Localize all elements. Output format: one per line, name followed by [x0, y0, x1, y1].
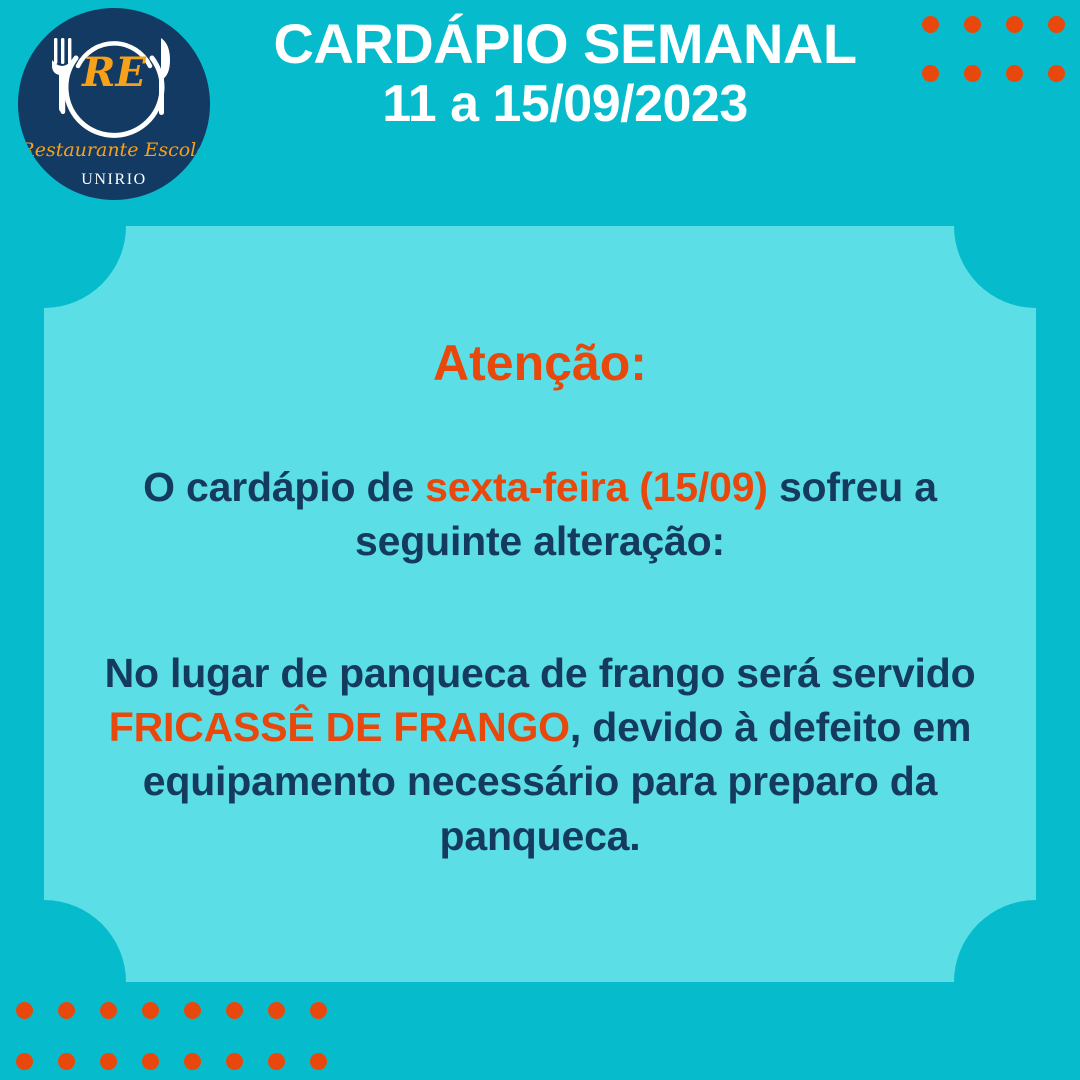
paragraph-2-highlight: FRICASSÊ DE FRANGO [109, 704, 570, 750]
paragraph-1-highlight: sexta-feira (15/09) [425, 464, 768, 510]
dot-icon [1006, 16, 1023, 33]
dot-icon [100, 1002, 117, 1019]
dot-icon [964, 65, 981, 82]
dot-icon [310, 1002, 327, 1019]
notice-paragraph-2: No lugar de panqueca de frango será serv… [100, 646, 980, 862]
restaurante-escola-unirio-logo: RE Restaurante Escola UNIRIO [18, 8, 210, 200]
paragraph-1-before: O cardápio de [143, 464, 425, 510]
dot-icon [226, 1002, 243, 1019]
notice-paragraph-1: O cardápio de sexta-feira (15/09) sofreu… [100, 460, 980, 568]
title-line-2: 11 a 15/09/2023 [215, 77, 915, 132]
page-title: CARDÁPIO SEMANAL 11 a 15/09/2023 [215, 14, 915, 132]
dot-icon [142, 1053, 159, 1070]
dot-icon [226, 1053, 243, 1070]
dot-icon [142, 1002, 159, 1019]
dot-grid-bottom-left [16, 1002, 327, 1070]
dot-grid-top-right [922, 16, 1065, 82]
dot-icon [16, 1053, 33, 1070]
dot-icon [58, 1002, 75, 1019]
poster-canvas: RE Restaurante Escola UNIRIO CARDÁPIO SE… [0, 0, 1080, 1080]
logo-institution: UNIRIO [81, 171, 147, 188]
dot-icon [184, 1053, 201, 1070]
dot-row [16, 1002, 327, 1019]
dot-icon [58, 1053, 75, 1070]
dot-icon [922, 16, 939, 33]
dot-icon [310, 1053, 327, 1070]
dot-icon [100, 1053, 117, 1070]
dot-icon [268, 1053, 285, 1070]
logo-script-text: Restaurante Escola [19, 139, 207, 161]
title-line-1: CARDÁPIO SEMANAL [215, 14, 915, 73]
card-content: Atenção: O cardápio de sexta-feira (15/0… [44, 226, 1036, 982]
dot-icon [1006, 65, 1023, 82]
dot-icon [1048, 65, 1065, 82]
logo-monogram: RE [81, 49, 146, 96]
dot-row [922, 65, 1065, 82]
dot-row [922, 16, 1065, 33]
dot-row [16, 1053, 327, 1070]
paragraph-2-before: No lugar de panqueca de frango será serv… [105, 650, 976, 696]
attention-heading: Atenção: [70, 226, 1010, 388]
dot-icon [268, 1002, 285, 1019]
notice-card: Atenção: O cardápio de sexta-feira (15/0… [44, 226, 1036, 982]
dot-icon [16, 1002, 33, 1019]
dot-icon [1048, 16, 1065, 33]
dot-icon [184, 1002, 201, 1019]
dot-icon [922, 65, 939, 82]
dot-icon [964, 16, 981, 33]
